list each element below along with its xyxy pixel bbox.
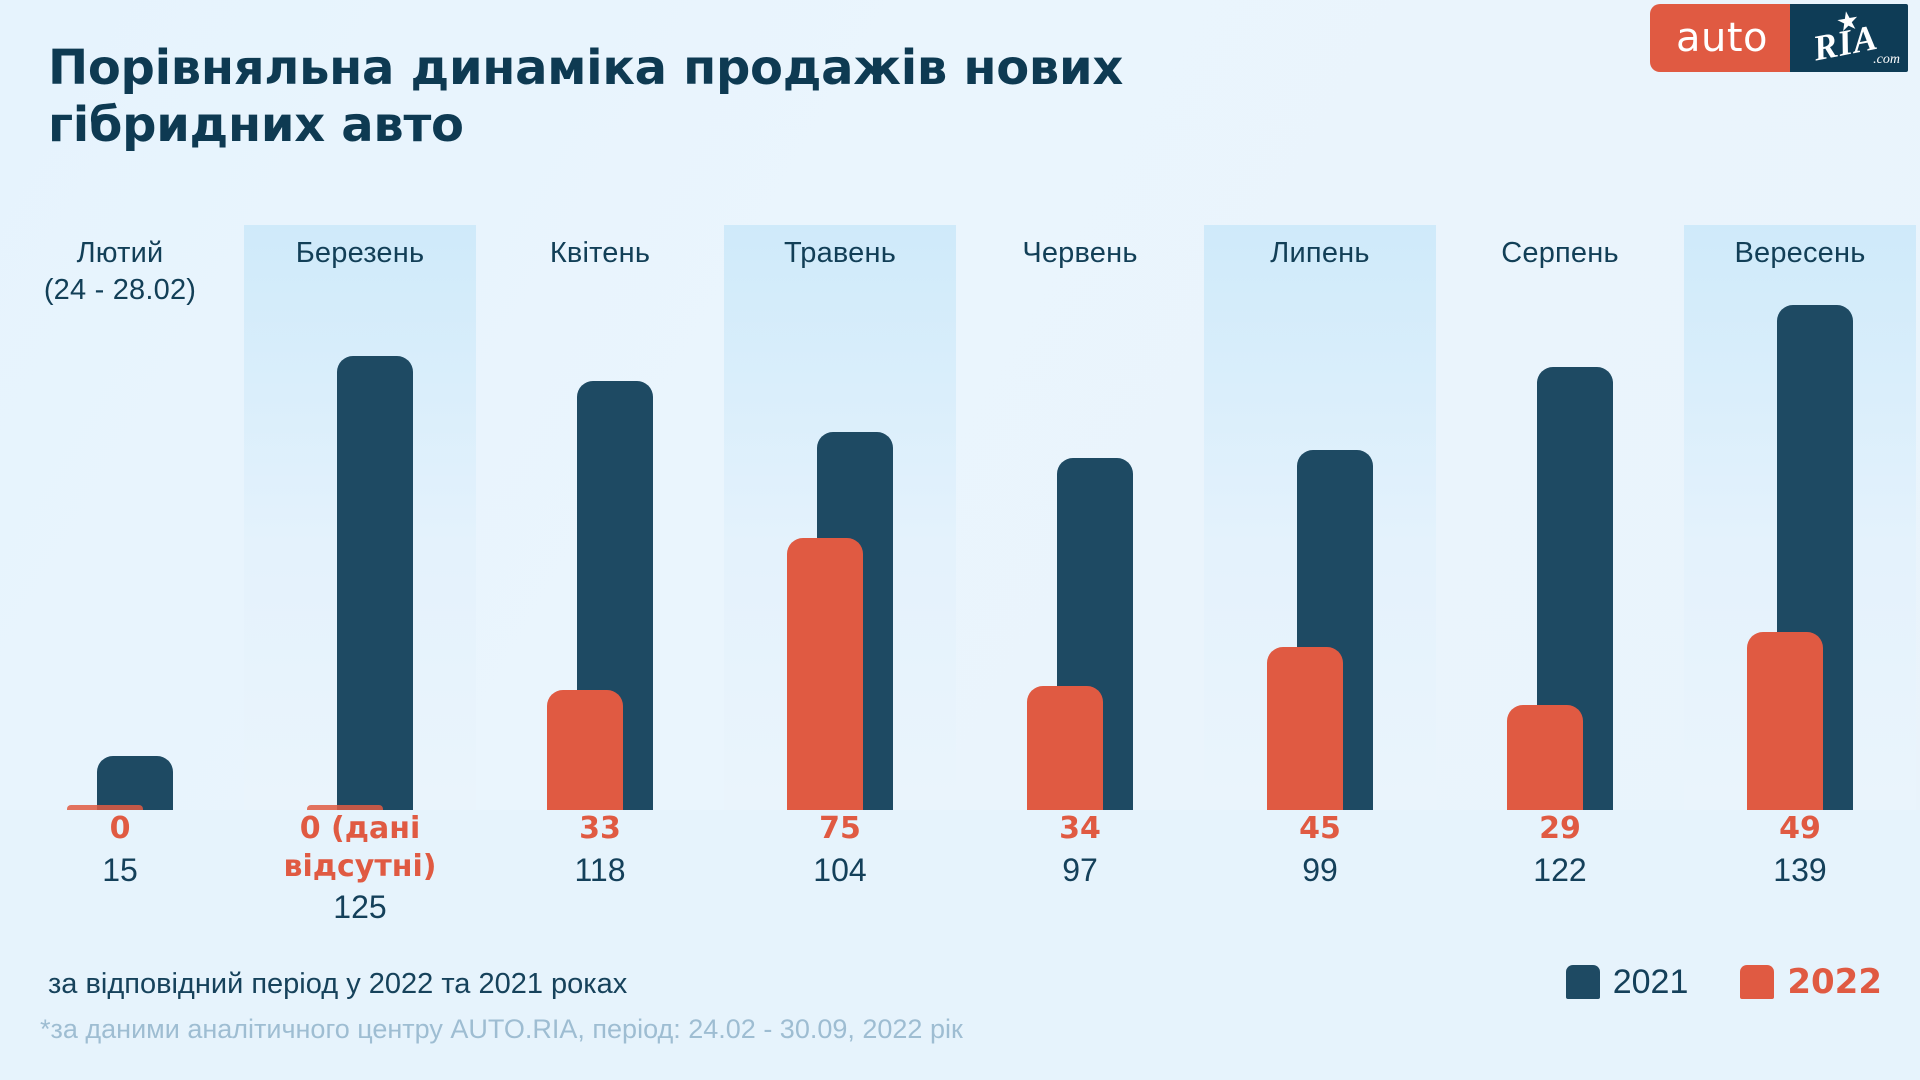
- chart-group-6: Липень: [1200, 225, 1440, 810]
- chart-value-labels: 0150 (дані відсутні)12533118751043497459…: [0, 810, 1920, 920]
- bar-pair: [480, 225, 720, 810]
- bar-2021[interactable]: [337, 356, 413, 810]
- logo-ria-text: RIA: [1810, 16, 1882, 70]
- legend-swatch-2021: [1566, 965, 1600, 999]
- value-2021: 139: [1680, 850, 1920, 890]
- value-2022: 29: [1440, 810, 1680, 848]
- chart-group-4: Травень: [720, 225, 960, 810]
- legend-label-2021: 2021: [1613, 963, 1689, 1002]
- infographic-canvas: auto ★ RIA .com Порівняльна динаміка про…: [0, 0, 1920, 1080]
- bar-pair: [720, 225, 960, 810]
- chart-plot-area: Лютий(24 - 28.02)БерезеньКвітеньТравеньЧ…: [0, 225, 1920, 810]
- bar-pair: [240, 225, 480, 810]
- value-2021: 122: [1440, 850, 1680, 890]
- value-2021: 118: [480, 850, 720, 890]
- legend-swatch-2022: [1740, 965, 1774, 999]
- value-cell: 33118: [480, 810, 720, 920]
- value-cell: 015: [0, 810, 240, 920]
- bar-pair: [0, 225, 240, 810]
- bar-2022[interactable]: [307, 805, 383, 810]
- bar-2022[interactable]: [547, 690, 623, 810]
- value-cell: 0 (дані відсутні)125: [240, 810, 480, 920]
- chart-legend: 2021 2022: [1566, 962, 1882, 1002]
- chart-group-7: Серпень: [1440, 225, 1680, 810]
- value-2021: 104: [720, 850, 960, 890]
- logo-com-text: .com: [1873, 52, 1900, 68]
- bar-2021[interactable]: [97, 756, 173, 810]
- bar-2022[interactable]: [1267, 647, 1343, 810]
- legend-label-2022: 2022: [1787, 962, 1882, 1002]
- page-title: Порівняльна динаміка продажів нових гібр…: [48, 40, 1198, 153]
- auto-ria-logo[interactable]: auto ★ RIA .com: [1650, 4, 1908, 72]
- footer-source: *за даними аналітичного центру AUTO.RIA,…: [40, 1014, 963, 1045]
- value-2022: 0 (дані відсутні): [240, 810, 480, 885]
- value-2022: 75: [720, 810, 960, 848]
- chart-group-5: Червень: [960, 225, 1200, 810]
- footer-note: за відповідний період у 2022 та 2021 рок…: [48, 968, 627, 1001]
- value-2022: 45: [1200, 810, 1440, 848]
- chart-group-1: Лютий(24 - 28.02): [0, 225, 240, 810]
- bar-pair: [960, 225, 1200, 810]
- bar-pair: [1680, 225, 1920, 810]
- bar-2022[interactable]: [1507, 705, 1583, 810]
- value-2021: 97: [960, 850, 1200, 890]
- bar-pair: [1440, 225, 1680, 810]
- value-2022: 34: [960, 810, 1200, 848]
- value-2022: 33: [480, 810, 720, 848]
- logo-ria-block: ★ RIA .com: [1790, 4, 1908, 72]
- value-cell: 3497: [960, 810, 1200, 920]
- chart-group-3: Квітень: [480, 225, 720, 810]
- bar-2022[interactable]: [1027, 686, 1103, 810]
- bar-pair: [1200, 225, 1440, 810]
- value-cell: 29122: [1440, 810, 1680, 920]
- chart-group-8: Вересень: [1680, 225, 1920, 810]
- value-2021: 125: [240, 887, 480, 927]
- chart-bar-groups: Лютий(24 - 28.02)БерезеньКвітеньТравеньЧ…: [0, 225, 1920, 810]
- value-2022: 49: [1680, 810, 1920, 848]
- value-2022: 0: [0, 810, 240, 848]
- value-cell: 75104: [720, 810, 960, 920]
- value-2021: 15: [0, 850, 240, 890]
- bar-2022[interactable]: [1747, 632, 1823, 810]
- value-cell: 4599: [1200, 810, 1440, 920]
- legend-item-2021[interactable]: 2021: [1566, 963, 1689, 1002]
- value-2021: 99: [1200, 850, 1440, 890]
- legend-item-2022[interactable]: 2022: [1740, 962, 1882, 1002]
- value-cell: 49139: [1680, 810, 1920, 920]
- bar-2022[interactable]: [787, 538, 863, 810]
- chart-group-2: Березень: [240, 225, 480, 810]
- logo-auto-text: auto: [1650, 4, 1790, 72]
- bar-2022[interactable]: [67, 805, 143, 810]
